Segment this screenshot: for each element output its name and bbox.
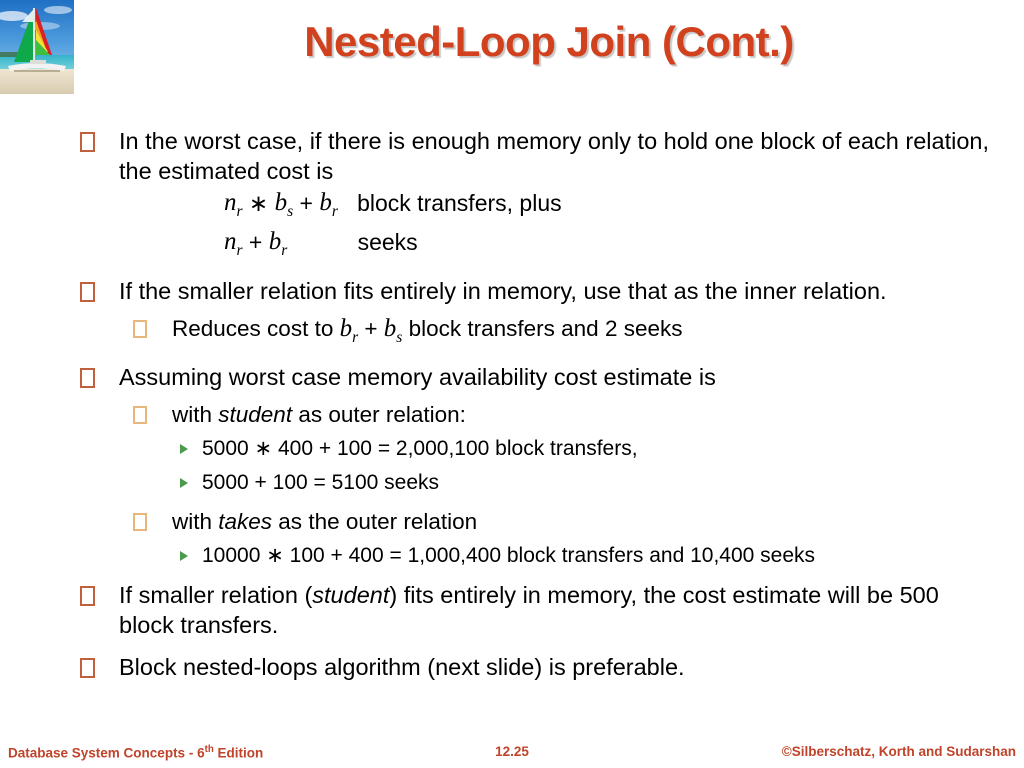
spacer (0, 570, 1024, 580)
bullet-item-student-in-memory: If smaller relation (student) fits entir… (0, 580, 1024, 640)
sub-bullet-text: Reduces cost to br + bs block transfers … (172, 314, 682, 352)
spacer (0, 497, 1024, 507)
variable-br: br (269, 227, 288, 266)
operator-plus: + (293, 188, 319, 218)
detail-text: 5000 + 100 = 5100 seeks (202, 469, 439, 497)
detail-item-takes-transfers: 10000 ∗ 100 + 400 = 1,000,400 block tran… (0, 542, 1024, 570)
formula-seeks: nr + br seeks (0, 227, 1024, 266)
sub-bullet-item-student-outer: with student as outer relation: (0, 400, 1024, 429)
sub-bullet-item-reduces-cost: Reduces cost to br + bs block transfers … (0, 314, 1024, 352)
detail-item-student-transfers: 5000 ∗ 400 + 100 = 2,000,100 block trans… (0, 435, 1024, 463)
sub-bullet-text: with takes as the outer relation (172, 507, 477, 536)
square-bullet-icon (80, 658, 95, 678)
square-bullet-icon (80, 368, 95, 388)
triangle-bullet-icon (180, 551, 188, 561)
bullet-text: In the worst case, if there is enough me… (119, 126, 999, 186)
bullet-item-block-nested-loops: Block nested-loops algorithm (next slide… (0, 652, 1024, 682)
triangle-bullet-icon (180, 478, 188, 488)
relation-name-student: student (218, 402, 292, 427)
variable-nr: nr (224, 188, 243, 227)
bullet-text: If the smaller relation fits entirely in… (119, 276, 887, 306)
slide-title: Nested-Loop Join (Cont.) (74, 18, 1024, 66)
relation-name-takes: takes (218, 509, 272, 534)
slide-footer: Database System Concepts - 6th Edition 1… (0, 744, 1024, 766)
bullet-text: Block nested-loops algorithm (next slide… (119, 652, 685, 682)
bullet-text-line1: In the worst case, if there is enough me… (119, 128, 899, 154)
variable-br: br (340, 315, 359, 342)
square-bullet-icon (133, 406, 147, 424)
sub-bullet-item-takes-outer: with takes as the outer relation (0, 507, 1024, 536)
variable-bs: bs (384, 315, 403, 342)
relation-name-student: student (312, 582, 389, 608)
operator-plus: + (243, 227, 269, 257)
slide-logo-image (0, 0, 74, 94)
formula-label: seeks (287, 227, 417, 257)
operator-multiply: ∗ (243, 188, 275, 218)
beach-catamaran-photo (0, 0, 74, 94)
square-bullet-icon (80, 282, 95, 302)
slide-body: In the worst case, if there is enough me… (0, 126, 1024, 726)
variable-br: br (319, 188, 338, 227)
detail-text: 5000 ∗ 400 + 100 = 2,000,100 block trans… (202, 435, 638, 463)
triangle-bullet-icon (180, 444, 188, 454)
bullet-text: If smaller relation (student) fits entir… (119, 580, 999, 640)
square-bullet-icon (80, 132, 95, 152)
variable-nr: nr (224, 227, 243, 266)
variable-bs: bs (275, 188, 294, 227)
bullet-item-smaller-relation: If the smaller relation fits entirely in… (0, 276, 1024, 306)
formula-block-transfers: nr ∗ bs + br block transfers, plus (0, 188, 1024, 227)
bullet-item-assuming-worst-case: Assuming worst case memory availability … (0, 362, 1024, 392)
square-bullet-icon (133, 320, 147, 338)
bullet-text: Assuming worst case memory availability … (119, 362, 716, 392)
bullet-item-worst-case: In the worst case, if there is enough me… (0, 126, 1024, 186)
formula-label: block transfers, plus (338, 188, 562, 218)
footer-copyright: ©Silberschatz, Korth and Sudarshan (782, 744, 1016, 759)
square-bullet-icon (133, 513, 147, 531)
spacer (0, 266, 1024, 276)
detail-item-student-seeks: 5000 + 100 = 5100 seeks (0, 469, 1024, 497)
square-bullet-icon (80, 586, 95, 606)
detail-text: 10000 ∗ 100 + 400 = 1,000,400 block tran… (202, 542, 815, 570)
spacer (0, 352, 1024, 362)
spacer (0, 642, 1024, 652)
sub-bullet-text: with student as outer relation: (172, 400, 466, 429)
